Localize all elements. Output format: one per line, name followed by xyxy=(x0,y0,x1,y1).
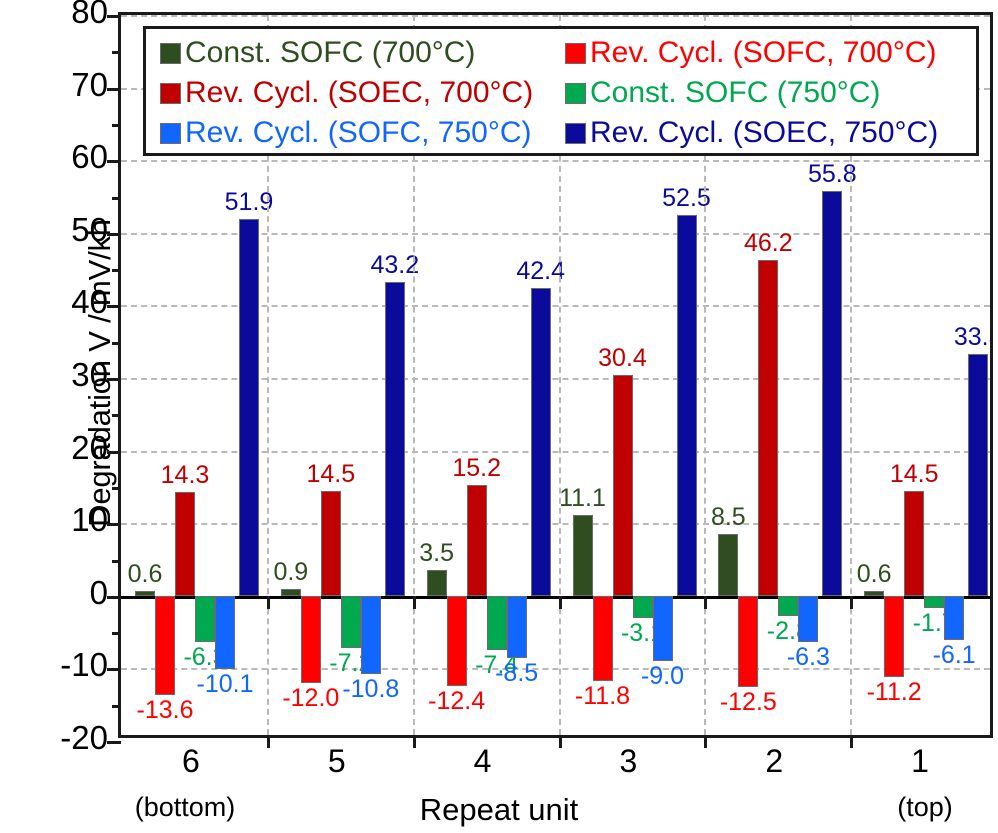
y-axis-minor-tick xyxy=(112,269,121,272)
bar xyxy=(531,288,551,596)
legend-item[interactable]: Rev. Cycl. (SOEC, 750°C) xyxy=(565,113,976,153)
y-axis-minor-tick xyxy=(112,632,121,635)
bar-value-label: 46.2 xyxy=(723,231,813,256)
y-axis-tick-label: 20 xyxy=(8,431,108,464)
bar-value-label: 14.3 xyxy=(140,463,230,488)
y-axis-minor-tick xyxy=(112,560,121,563)
y-axis-tick xyxy=(107,15,121,18)
bar xyxy=(718,534,738,596)
bar xyxy=(798,596,818,642)
bar xyxy=(944,596,964,640)
legend-label: Const. SOFC (750°C) xyxy=(590,78,880,108)
bar-value-label: 42.4 xyxy=(496,259,586,284)
bar xyxy=(175,492,195,596)
legend-item[interactable]: Const. SOFC (700°C) xyxy=(146,33,565,73)
y-axis-tick xyxy=(107,233,121,236)
x-axis-tick-label: 2 xyxy=(704,745,844,777)
y-axis-tick-label: 10 xyxy=(8,503,108,536)
bar-value-label: 52.5 xyxy=(642,186,732,211)
y-axis-tick xyxy=(107,305,121,308)
x-axis-inner-tick xyxy=(413,596,416,609)
bar xyxy=(822,191,842,596)
x-axis-tick-labels: 654321 xyxy=(0,745,998,795)
bar-value-label: -10.1 xyxy=(180,672,270,697)
bar xyxy=(924,596,944,608)
x-axis-sublabel-bottom: (bottom) xyxy=(115,792,255,823)
y-axis-tick xyxy=(107,451,121,454)
bar-value-label: 14.5 xyxy=(869,462,959,487)
bar xyxy=(361,596,381,674)
chart-legend: Const. SOFC (700°C)Rev. Cycl. (SOFC, 700… xyxy=(143,26,979,156)
y-axis-tick-label: 80 xyxy=(8,0,108,28)
legend-label: Rev. Cycl. (SOFC, 700°C) xyxy=(590,38,937,68)
legend-row: Rev. Cycl. (SOEC, 700°C)Const. SOFC (750… xyxy=(146,73,976,113)
bar xyxy=(968,354,988,596)
bar xyxy=(653,596,673,661)
x-axis-inner-tick xyxy=(559,596,562,609)
x-axis-tick-label: 3 xyxy=(558,745,698,777)
y-axis-tick xyxy=(107,160,121,163)
bar-chart-figure: Degradation V / mV/kh 80706050403020100-… xyxy=(0,0,998,833)
x-axis-tick-label: 1 xyxy=(850,745,990,777)
y-axis-minor-tick xyxy=(112,197,121,200)
x-axis-sublabel-top: (top) xyxy=(855,792,995,823)
bar-value-label: 33.3 xyxy=(933,325,990,350)
x-axis-tick-label: 6 xyxy=(121,745,261,777)
legend-label: Rev. Cycl. (SOFC, 750°C) xyxy=(185,118,532,148)
bar xyxy=(427,570,447,595)
y-axis-minor-tick xyxy=(112,342,121,345)
y-axis-tick xyxy=(107,378,121,381)
bar xyxy=(633,596,653,619)
bar-value-label: -6.3 xyxy=(160,645,250,670)
bar-value-label: -12.4 xyxy=(412,689,502,714)
legend-item[interactable]: Const. SOFC (750°C) xyxy=(565,73,976,113)
y-axis-tick-labels: 80706050403020100-10-20 xyxy=(0,0,108,833)
legend-swatch-icon xyxy=(565,123,586,144)
y-axis-tick-label: 40 xyxy=(8,285,108,318)
y-axis-tick xyxy=(107,88,121,91)
x-axis-tick-label: 5 xyxy=(267,745,407,777)
y-axis-minor-tick xyxy=(112,124,121,127)
bar-value-label: -2.8 xyxy=(743,619,833,644)
legend-row: Rev. Cycl. (SOFC, 750°C)Rev. Cycl. (SOEC… xyxy=(146,113,976,153)
bar-value-label: -10.8 xyxy=(326,677,416,702)
bar xyxy=(195,596,215,642)
bar-value-label: -9.0 xyxy=(618,664,708,689)
bar xyxy=(904,491,924,596)
bar-value-label: -3.1 xyxy=(598,621,688,646)
y-axis-tick xyxy=(107,523,121,526)
legend-item[interactable]: Rev. Cycl. (SOFC, 750°C) xyxy=(146,113,565,153)
bar-value-label: -11.2 xyxy=(849,680,939,705)
y-axis-tick xyxy=(107,668,121,671)
y-axis-tick-label: 30 xyxy=(8,358,108,391)
bar xyxy=(573,515,593,596)
bar xyxy=(507,596,527,658)
bar-value-label: 14.5 xyxy=(286,462,376,487)
bar xyxy=(215,596,235,669)
bar-value-label: 51.9 xyxy=(204,190,294,215)
legend-item[interactable]: Rev. Cycl. (SOEC, 700°C) xyxy=(146,73,565,113)
x-axis-inner-tick xyxy=(850,596,853,609)
legend-swatch-icon xyxy=(565,83,586,104)
legend-label: Rev. Cycl. (SOEC, 750°C) xyxy=(590,118,938,148)
gridline-horizontal xyxy=(121,15,990,17)
y-axis-minor-tick xyxy=(112,414,121,417)
legend-row: Const. SOFC (700°C)Rev. Cycl. (SOFC, 700… xyxy=(146,33,976,73)
bar-value-label: -12.5 xyxy=(703,690,793,715)
bar xyxy=(281,589,301,596)
bar-value-label: -6.1 xyxy=(909,643,990,668)
y-axis-tick-label: 60 xyxy=(8,140,108,173)
y-axis-tick-label: -10 xyxy=(8,648,108,681)
bar-value-label: -7.2 xyxy=(306,651,396,676)
bar xyxy=(467,485,487,595)
y-axis-tick-label: 70 xyxy=(8,68,108,101)
y-axis-minor-tick xyxy=(112,487,121,490)
y-axis-tick-label: 0 xyxy=(8,576,108,609)
bar-value-label: -8.5 xyxy=(472,661,562,686)
zero-baseline xyxy=(121,596,990,599)
x-axis-tick-label: 4 xyxy=(413,745,553,777)
y-axis-tick xyxy=(107,596,121,599)
bar-value-label: 15.2 xyxy=(432,456,522,481)
bar-value-label: 30.4 xyxy=(578,346,668,371)
legend-label: Rev. Cycl. (SOEC, 700°C) xyxy=(185,78,533,108)
legend-item[interactable]: Rev. Cycl. (SOFC, 700°C) xyxy=(565,33,976,73)
bar xyxy=(864,591,884,595)
bar xyxy=(239,219,259,596)
legend-swatch-icon xyxy=(565,43,586,64)
x-axis-inner-tick xyxy=(704,596,707,609)
bar xyxy=(487,596,507,650)
bar xyxy=(778,596,798,616)
x-axis-inner-tick xyxy=(267,596,270,609)
legend-swatch-icon xyxy=(160,43,181,64)
legend-swatch-icon xyxy=(160,123,181,144)
bar-value-label: -13.6 xyxy=(121,698,210,723)
bar-value-label: 55.8 xyxy=(787,162,877,187)
bar xyxy=(341,596,361,648)
bar-value-label: 43.2 xyxy=(350,253,440,278)
y-axis-minor-tick xyxy=(112,51,121,54)
bar xyxy=(884,596,904,677)
bar-value-label: -6.3 xyxy=(763,645,853,670)
y-axis-minor-tick xyxy=(112,705,121,708)
bar xyxy=(677,215,697,596)
bar xyxy=(613,375,633,596)
y-axis-tick-label: 50 xyxy=(8,213,108,246)
bar xyxy=(758,260,778,595)
bar xyxy=(135,591,155,595)
legend-swatch-icon xyxy=(160,83,181,104)
legend-label: Const. SOFC (700°C) xyxy=(185,38,475,68)
bar-value-label: -1.7 xyxy=(889,611,979,636)
bar xyxy=(321,491,341,596)
y-axis-tick xyxy=(107,741,121,744)
